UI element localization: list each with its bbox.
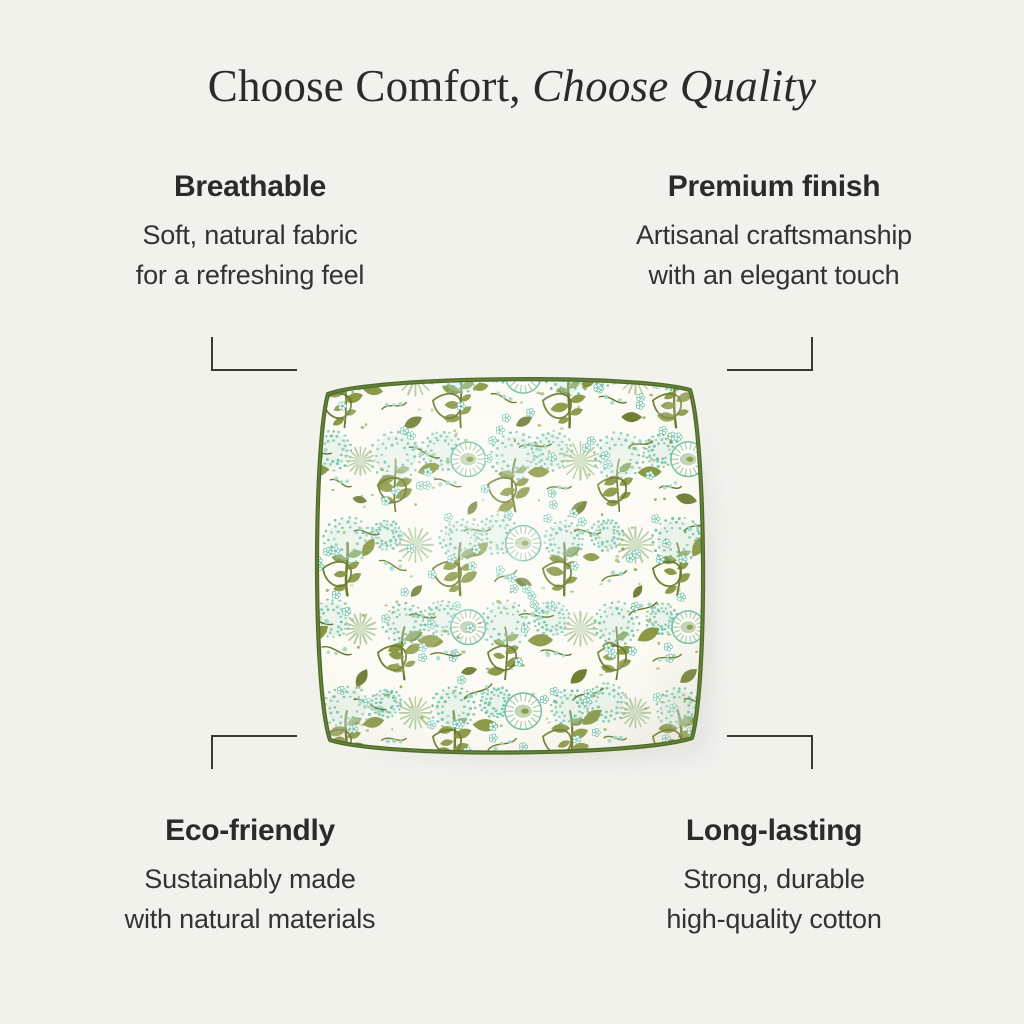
feature-premium-finish-line1: Artisanal craftsmanship	[544, 215, 1004, 255]
feature-breathable: Breathable Soft, natural fabric for a re…	[20, 168, 480, 295]
feature-premium-finish-body: Artisanal craftsmanship with an elegant …	[544, 215, 1004, 295]
bracket-bottom-left	[211, 735, 297, 769]
feature-long-lasting-body: Strong, durable high-quality cotton	[544, 859, 1004, 939]
feature-long-lasting: Long-lasting Strong, durable high-qualit…	[544, 812, 1004, 939]
pillow-illustration	[300, 360, 720, 760]
bracket-top-right-horizontal	[727, 369, 813, 371]
infographic-canvas: Choose Comfort, Choose Quality Breathabl…	[0, 0, 1024, 1024]
bracket-bottom-left-horizontal	[211, 735, 297, 737]
bracket-bottom-right	[727, 735, 813, 769]
product-image-throw-pillow	[300, 360, 720, 760]
bracket-top-left-vertical	[211, 337, 213, 371]
feature-eco-friendly-title: Eco-friendly	[20, 812, 480, 850]
feature-breathable-body: Soft, natural fabric for a refreshing fe…	[20, 215, 480, 295]
page-title: Choose Comfort, Choose Quality	[0, 58, 1024, 114]
bracket-top-right-vertical	[811, 337, 813, 371]
bracket-bottom-right-vertical	[811, 735, 813, 769]
feature-long-lasting-title: Long-lasting	[544, 812, 1004, 850]
bracket-bottom-left-vertical	[211, 735, 213, 769]
title-regular-part: Choose Comfort,	[208, 61, 521, 111]
feature-premium-finish: Premium finish Artisanal craftsmanship w…	[544, 168, 1004, 295]
feature-eco-friendly-body: Sustainably made with natural materials	[20, 859, 480, 939]
title-italic-part: Choose Quality	[532, 61, 816, 111]
feature-premium-finish-line2: with an elegant touch	[544, 255, 1004, 295]
feature-eco-friendly: Eco-friendly Sustainably made with natur…	[20, 812, 480, 939]
feature-breathable-line2: for a refreshing feel	[20, 255, 480, 295]
feature-long-lasting-line2: high-quality cotton	[544, 899, 1004, 939]
feature-eco-friendly-line1: Sustainably made	[20, 859, 480, 899]
bracket-top-right	[727, 337, 813, 371]
bracket-top-left-horizontal	[211, 369, 297, 371]
feature-breathable-line1: Soft, natural fabric	[20, 215, 480, 255]
feature-breathable-title: Breathable	[20, 168, 480, 206]
bracket-bottom-right-horizontal	[727, 735, 813, 737]
bracket-top-left	[211, 337, 297, 371]
feature-long-lasting-line1: Strong, durable	[544, 859, 1004, 899]
feature-eco-friendly-line2: with natural materials	[20, 899, 480, 939]
feature-premium-finish-title: Premium finish	[544, 168, 1004, 206]
